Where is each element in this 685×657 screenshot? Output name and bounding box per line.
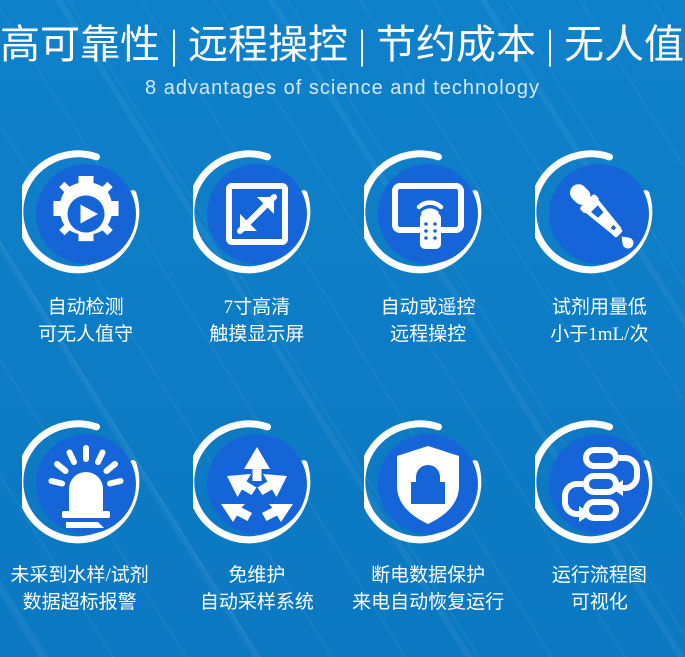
dropper-pipette-icon — [549, 164, 649, 264]
feature-item-maintenance-free[interactable]: 免维护 自动采样系统 — [171, 420, 342, 657]
feature-item-power-protection[interactable]: 断电数据保护 来电自动恢复运行 — [343, 420, 514, 657]
caption-line-2: 自动采样系统 — [200, 589, 314, 616]
feature-row-1: 自动检测 可无人值守 7寸高清 触摸显示屏 — [0, 150, 685, 390]
caption-line-1: 7寸高清 — [209, 294, 304, 321]
feature-caption: 自动检测 可无人值守 — [38, 294, 133, 348]
feature-badge — [193, 420, 321, 548]
caption-line-2: 远程操控 — [381, 321, 476, 348]
recycle-icon — [207, 434, 307, 534]
feature-item-touch-screen[interactable]: 7寸高清 触摸显示屏 — [171, 150, 342, 390]
feature-row-2: 未采到水样/试剂 数据超标报警 — [0, 420, 685, 657]
caption-line-2: 触摸显示屏 — [209, 321, 304, 348]
caption-line-2: 来电自动恢复运行 — [352, 589, 504, 616]
feature-badge — [22, 420, 150, 548]
feature-badge — [22, 150, 150, 278]
caption-line-2: 可视化 — [552, 589, 647, 616]
feature-badge — [535, 420, 663, 548]
page-subtitle: 8 advantages of science and technology — [0, 76, 685, 100]
caption-line-2: 数据超标报警 — [10, 589, 148, 616]
caption-line-1: 自动检测 — [38, 294, 133, 321]
poster-canvas: 高可靠性 | 远程操控 | 节约成本 | 无人值守 8 advantages o… — [0, 0, 685, 657]
feature-caption: 未采到水样/试剂 数据超标报警 — [10, 562, 148, 616]
caption-line-1: 断电数据保护 — [352, 562, 504, 589]
caption-line-1: 运行流程图 — [552, 562, 647, 589]
feature-caption: 断电数据保护 来电自动恢复运行 — [352, 562, 504, 616]
feature-item-alarm[interactable]: 未采到水样/试剂 数据超标报警 — [0, 420, 171, 657]
feature-caption: 运行流程图 可视化 — [552, 562, 647, 616]
feature-item-remote-control[interactable]: 自动或遥控 远程操控 — [343, 150, 514, 390]
alarm-siren-icon — [36, 434, 136, 534]
feature-item-auto-detection[interactable]: 自动检测 可无人值守 — [0, 150, 171, 390]
monitor-remote-wifi-icon — [378, 164, 478, 264]
caption-line-2: 可无人值守 — [38, 321, 133, 348]
caption-line-1: 自动或遥控 — [381, 294, 476, 321]
caption-line-1: 免维护 — [200, 562, 314, 589]
feature-caption: 免维护 自动采样系统 — [200, 562, 314, 616]
feature-badge — [364, 420, 492, 548]
caption-line-1: 试剂用量低 — [550, 294, 648, 321]
caption-line-2: 小于1mL/次 — [550, 321, 648, 348]
gear-play-icon — [36, 164, 136, 264]
feature-item-low-reagent[interactable]: 试剂用量低 小于1mL/次 — [514, 150, 685, 390]
feature-caption: 自动或遥控 远程操控 — [381, 294, 476, 348]
feature-caption: 7寸高清 触摸显示屏 — [209, 294, 304, 348]
expand-arrows-screen-icon — [207, 164, 307, 264]
feature-caption: 试剂用量低 小于1mL/次 — [550, 294, 648, 348]
feature-badge — [193, 150, 321, 278]
feature-item-flowchart[interactable]: 运行流程图 可视化 — [514, 420, 685, 657]
shield-lock-icon — [378, 434, 478, 534]
page-title: 高可靠性 | 远程操控 | 节约成本 | 无人值守 — [0, 22, 685, 68]
poster-header: 高可靠性 | 远程操控 | 节约成本 | 无人值守 8 advantages o… — [0, 0, 685, 120]
caption-line-1: 未采到水样/试剂 — [10, 562, 148, 589]
feature-badge — [535, 150, 663, 278]
flowchart-loop-icon — [549, 434, 649, 534]
feature-badge — [364, 150, 492, 278]
